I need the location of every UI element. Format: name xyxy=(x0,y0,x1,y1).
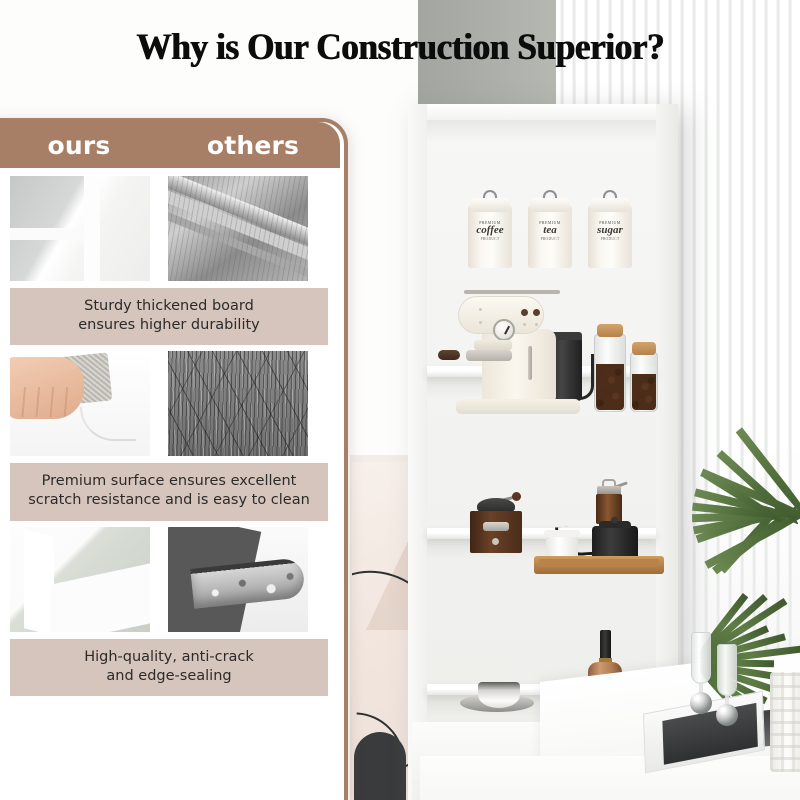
canister-label: PREMIUM coffee PRODUCT xyxy=(468,220,512,241)
canister-lid xyxy=(590,198,630,212)
caption-line-1: Sturdy thickened board xyxy=(16,297,322,316)
pressure-gauge-icon xyxy=(493,319,515,341)
grinder-drawer-knob xyxy=(492,538,499,545)
wooden-serving-tray xyxy=(534,556,664,574)
espresso-group-head xyxy=(474,340,512,350)
column-label-others: others xyxy=(207,131,299,160)
bookcase-left-side xyxy=(408,104,427,800)
tray-inner-surface xyxy=(539,559,659,567)
flute-chrome-base xyxy=(716,704,738,726)
flute-bowl xyxy=(691,632,711,684)
espresso-indicator-dot xyxy=(523,323,526,326)
kettle-knob xyxy=(611,517,618,523)
caption-line-1: High-quality, anti-crack xyxy=(16,648,322,667)
row-images xyxy=(10,527,326,632)
others-image-thin-boards xyxy=(168,176,308,281)
ours-image-sealed-edge xyxy=(10,527,150,632)
white-canister-lid xyxy=(544,530,580,537)
coffee-beans xyxy=(596,364,624,410)
flute-bowl xyxy=(717,644,737,696)
vintage-coffee-grinder xyxy=(470,485,522,553)
comparison-row-edge-sealing: High-quality, anti-crack and edge-sealin… xyxy=(10,527,326,696)
glass-jar-coffee-beans-large xyxy=(594,324,626,412)
column-header-others: others xyxy=(166,131,340,160)
ours-image-wipe-clean xyxy=(10,351,150,456)
steam-wand xyxy=(528,346,532,380)
canister-name-text: sugar xyxy=(588,225,632,237)
portafilter-handle xyxy=(438,350,460,360)
coffee-beans xyxy=(632,374,656,410)
shelf-shadow xyxy=(427,120,656,142)
flute-chrome-base xyxy=(690,692,712,714)
espresso-drip-tray xyxy=(456,399,580,414)
caption-line-2: and edge-sealing xyxy=(16,667,322,686)
bottle-collar xyxy=(599,658,612,662)
canister-product-text: PRODUCT xyxy=(468,237,512,241)
caption-line-1: Premium surface ensures excellent xyxy=(16,472,322,491)
row-images xyxy=(10,176,326,281)
row-caption-edge-sealing: High-quality, anti-crack and edge-sealin… xyxy=(10,639,328,696)
canister-lid xyxy=(530,198,570,212)
art-dark-blob xyxy=(354,732,406,800)
espresso-machine xyxy=(452,282,582,414)
canister-tea: PREMIUM tea PRODUCT xyxy=(528,190,572,268)
canister-sugar: PREMIUM sugar PRODUCT xyxy=(588,190,632,268)
comparison-rows: Sturdy thickened board ensures higher du… xyxy=(0,168,340,702)
portafilter xyxy=(466,350,512,361)
row-images xyxy=(10,351,326,456)
textured-white-vase xyxy=(770,672,800,772)
grinder-name-plate xyxy=(483,522,509,531)
comparison-header: ours others xyxy=(0,122,340,168)
champagne-flute-right xyxy=(716,644,738,730)
caption-line-2: scratch resistance and is easy to clean xyxy=(16,491,322,510)
comparison-card: ours others Sturdy thickened board ensur… xyxy=(0,118,348,800)
comparison-row-surface-quality: Premium surface ensures excellent scratc… xyxy=(10,351,326,520)
hand xyxy=(10,357,84,419)
grinder-crank-knob xyxy=(512,492,521,501)
hand-grinder-hopper xyxy=(602,479,616,486)
glass-jar-coffee-beans-small xyxy=(630,342,658,412)
canister-lid xyxy=(470,198,510,212)
grinder-wood-box xyxy=(470,511,522,553)
canister-name-text: coffee xyxy=(468,225,512,237)
page-title: Why is Our Construction Superior? xyxy=(20,26,780,69)
espresso-indicator-dot xyxy=(479,321,482,324)
canister-coffee: PREMIUM coffee PRODUCT xyxy=(468,190,512,268)
power-cord xyxy=(578,354,594,400)
row-caption-surface-quality: Premium surface ensures excellent scratc… xyxy=(10,463,328,520)
espresso-knob xyxy=(533,309,540,316)
cork-lid xyxy=(632,342,656,355)
espresso-indicator-dot xyxy=(479,308,482,311)
cork-lid xyxy=(597,324,624,337)
others-image-peeling-edge xyxy=(168,527,308,632)
row-caption-board-thickness: Sturdy thickened board ensures higher du… xyxy=(10,288,328,345)
espresso-cup-rail xyxy=(464,290,560,294)
white-bowl xyxy=(478,682,520,708)
canister-product-text: PRODUCT xyxy=(528,237,572,241)
surface-streak xyxy=(80,407,136,441)
ours-image-thick-board xyxy=(10,176,150,281)
column-label-ours: ours xyxy=(48,131,111,160)
canister-product-text: PRODUCT xyxy=(588,237,632,241)
canister-label: PREMIUM tea PRODUCT xyxy=(528,220,572,241)
bookcase-top-board xyxy=(408,104,678,120)
comparison-row-board-thickness: Sturdy thickened board ensures higher du… xyxy=(10,176,326,345)
white-counter-front xyxy=(420,756,800,800)
caption-line-2: ensures higher durability xyxy=(16,316,322,335)
espresso-indicator-dot xyxy=(535,323,538,326)
peeling-edge-band xyxy=(190,557,306,608)
champagne-flute-left xyxy=(690,632,712,718)
espresso-knob xyxy=(521,309,528,316)
infographic-canvas: PREMIUM coffee PRODUCT PREMIUM tea PRODU… xyxy=(0,0,800,800)
others-image-scratched-surface xyxy=(168,351,308,456)
canister-name-text: tea xyxy=(528,225,572,237)
canister-label: PREMIUM sugar PRODUCT xyxy=(588,220,632,241)
espresso-control-panel xyxy=(458,296,544,334)
column-header-ours: ours xyxy=(0,131,166,160)
